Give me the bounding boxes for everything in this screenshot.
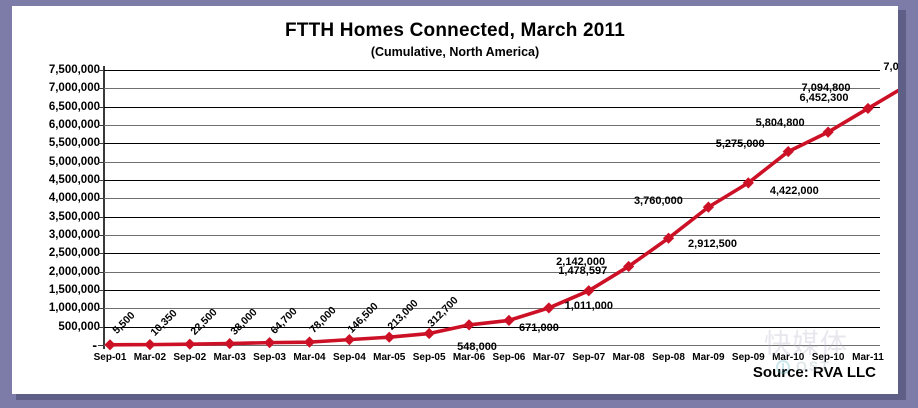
data-point-marker	[304, 337, 315, 348]
data-point-label: 7,094,800	[883, 61, 898, 73]
chart-subtitle: (Cumulative, North America)	[12, 45, 898, 59]
y-axis-label: 500,000	[14, 321, 100, 333]
x-axis-label: Sep-06	[493, 352, 526, 363]
slide-page: FTTH Homes Connected, March 2011 (Cumula…	[12, 6, 898, 394]
y-axis-labels: -500,0001,000,0001,500,0002,000,0002,500…	[12, 70, 100, 345]
x-axis-label: Sep-01	[94, 352, 127, 363]
data-point-marker	[463, 319, 474, 330]
x-axis-label: Mar-06	[453, 352, 485, 363]
data-point-label: 5,804,800	[756, 117, 805, 129]
y-axis-label: 1,000,000	[14, 302, 100, 314]
x-axis-label: Sep-08	[652, 352, 685, 363]
y-axis-label: 2,500,000	[14, 247, 100, 259]
source-note: Source: RVA LLC	[753, 364, 876, 381]
final-data-point-label: 7,094,800	[802, 82, 851, 94]
data-point-marker	[184, 339, 195, 350]
y-axis-label: 5,000,000	[14, 156, 100, 168]
data-point-label: 1,011,000	[565, 300, 613, 312]
y-axis-label: 5,500,000	[14, 137, 100, 149]
data-point-marker	[503, 315, 514, 326]
data-point-marker	[264, 337, 275, 348]
x-axis-label: Sep-03	[253, 352, 286, 363]
data-point-marker	[104, 339, 115, 350]
x-axis-label: Mar-03	[214, 352, 246, 363]
x-axis-label: Mar-09	[692, 352, 724, 363]
x-axis-label: Mar-07	[533, 352, 565, 363]
data-point-marker	[144, 339, 155, 350]
x-axis-label: Sep-05	[413, 352, 446, 363]
x-axis-label: Sep-10	[812, 352, 845, 363]
chart-title: FTTH Homes Connected, March 2011	[12, 20, 898, 42]
x-axis-label: Mar-04	[293, 352, 325, 363]
x-axis-label: Sep-07	[572, 352, 605, 363]
x-axis-label: Mar-11	[852, 352, 884, 363]
x-axis-label: Mar-08	[613, 352, 645, 363]
data-point-marker	[384, 332, 395, 343]
y-axis-label: 3,000,000	[14, 229, 100, 241]
data-point-label: 2,912,500	[688, 238, 737, 250]
x-axis-label: Sep-02	[173, 352, 206, 363]
series-line	[104, 70, 880, 345]
y-axis-label: 4,000,000	[14, 192, 100, 204]
y-axis-label: 6,500,000	[14, 101, 100, 113]
y-axis-label: 4,500,000	[14, 174, 100, 186]
x-axis-label: Sep-09	[732, 352, 765, 363]
plot-area: 5,50010,35022,50038,00064,70078,000146,5…	[104, 70, 880, 345]
y-axis-label: 1,500,000	[14, 284, 100, 296]
data-point-label: 2,142,000	[556, 256, 605, 268]
data-point-label: 4,422,000	[770, 185, 819, 197]
slide-frame: FTTH Homes Connected, March 2011 (Cumula…	[0, 0, 918, 408]
x-axis-label: Sep-04	[333, 352, 366, 363]
x-axis-label: Mar-10	[772, 352, 804, 363]
data-point-label: 5,275,000	[716, 138, 765, 150]
data-point-label: 671,000	[519, 322, 559, 334]
y-axis-label: 2,000,000	[14, 266, 100, 278]
y-axis-label: 3,500,000	[14, 211, 100, 223]
x-axis-label: Mar-05	[373, 352, 405, 363]
data-point-label: 3,760,000	[634, 195, 683, 207]
data-point-marker	[543, 302, 554, 313]
y-axis-label: 7,000,000	[14, 82, 100, 94]
y-axis-label: 7,500,000	[14, 64, 100, 76]
x-axis-label: Mar-02	[134, 352, 166, 363]
y-axis-label: -	[12, 337, 100, 353]
y-axis-label: 6,000,000	[14, 119, 100, 131]
data-point-marker	[224, 338, 235, 349]
y-axis-tick	[98, 345, 104, 346]
